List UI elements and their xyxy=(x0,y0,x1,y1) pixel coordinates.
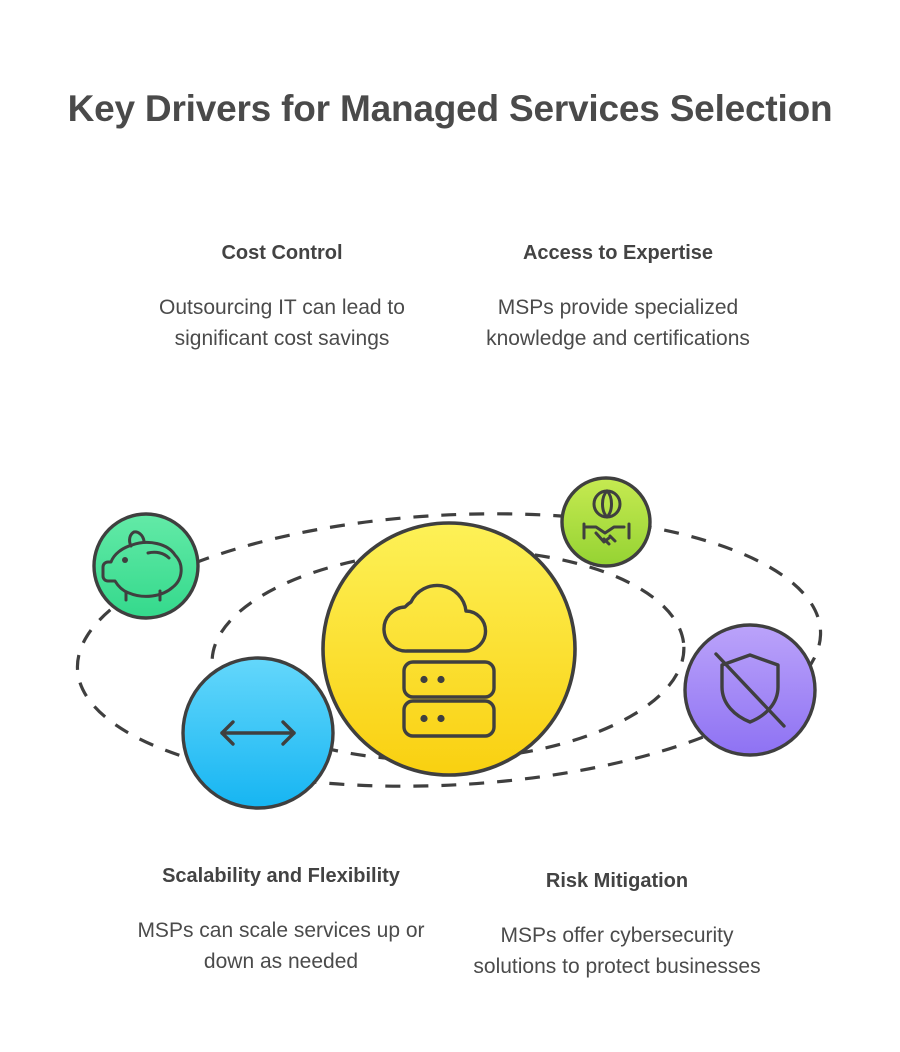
driver-label-access-to-expertise: Access to Expertise MSPs provide special… xyxy=(468,238,768,355)
node-access-to-expertise[interactable] xyxy=(562,478,650,566)
driver-description-access-to-expertise: MSPs provide specialized knowledge and c… xyxy=(468,292,768,354)
driver-heading-access-to-expertise: Access to Expertise xyxy=(468,238,768,268)
node-risk-mitigation[interactable] xyxy=(685,625,815,755)
driver-description-scalability-and-flexibility: MSPs can scale services up or down as ne… xyxy=(128,915,434,977)
node-managed-services-core[interactable] xyxy=(323,523,575,775)
orbit-diagram xyxy=(0,440,900,840)
driver-label-cost-control: Cost Control Outsourcing IT can lead to … xyxy=(132,238,432,355)
driver-heading-risk-mitigation: Risk Mitigation xyxy=(466,866,768,896)
page-title: Key Drivers for Managed Services Selecti… xyxy=(60,84,840,134)
driver-heading-scalability-and-flexibility: Scalability and Flexibility xyxy=(128,861,434,891)
node-cost-control[interactable] xyxy=(94,514,198,618)
driver-label-scalability-and-flexibility: Scalability and Flexibility MSPs can sca… xyxy=(128,861,434,978)
node-scalability-and-flexibility[interactable] xyxy=(183,658,333,808)
driver-label-risk-mitigation: Risk Mitigation MSPs offer cybersecurity… xyxy=(466,866,768,983)
cost-control-circle xyxy=(94,514,198,618)
driver-heading-cost-control: Cost Control xyxy=(132,238,432,268)
driver-description-cost-control: Outsourcing IT can lead to significant c… xyxy=(132,292,432,354)
driver-description-risk-mitigation: MSPs offer cybersecurity solutions to pr… xyxy=(466,920,768,982)
infographic-page: Key Drivers for Managed Services Selecti… xyxy=(0,0,900,1052)
